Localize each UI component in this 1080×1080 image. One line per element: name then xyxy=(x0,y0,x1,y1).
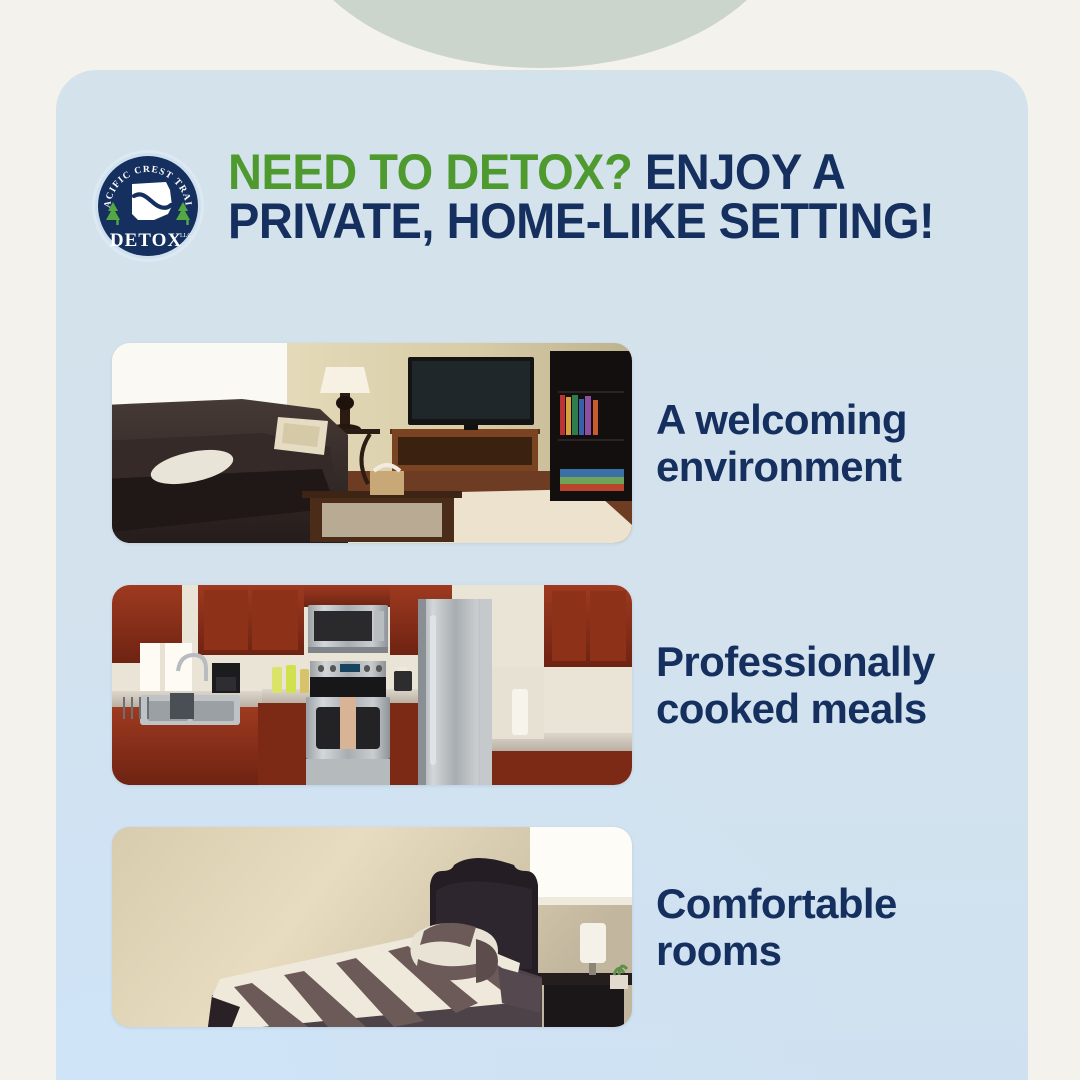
bedroom-photo xyxy=(112,827,632,1027)
feature-caption: Professionally cooked meals xyxy=(656,638,1016,733)
feature-list: A welcoming environment xyxy=(112,343,1018,1027)
headline-green-part: NEED TO DETOX? xyxy=(228,144,632,200)
feature-row: Professionally cooked meals xyxy=(112,585,1018,785)
top-decorative-arc xyxy=(293,0,787,68)
header: PACIFIC CREST TRAIL DETOX LLC NEED TO DE… xyxy=(92,142,1004,262)
living-room-photo xyxy=(112,343,632,543)
pacific-crest-trail-detox-logo: PACIFIC CREST TRAIL DETOX LLC xyxy=(92,150,204,262)
kitchen-photo xyxy=(112,585,632,785)
svg-text:DETOX: DETOX xyxy=(110,230,182,251)
feature-caption: Comfortable rooms xyxy=(656,880,1016,975)
feature-row: A welcoming environment xyxy=(112,343,1018,543)
feature-row: Comfortable rooms xyxy=(112,827,1018,1027)
promo-card: PACIFIC CREST TRAIL DETOX LLC NEED TO DE… xyxy=(56,70,1028,1080)
svg-text:LLC: LLC xyxy=(180,233,191,239)
headline: NEED TO DETOX? ENJOY A PRIVATE, HOME-LIK… xyxy=(228,142,957,246)
logo-graphic: PACIFIC CREST TRAIL DETOX LLC xyxy=(92,150,204,262)
feature-caption: A welcoming environment xyxy=(656,396,1016,491)
